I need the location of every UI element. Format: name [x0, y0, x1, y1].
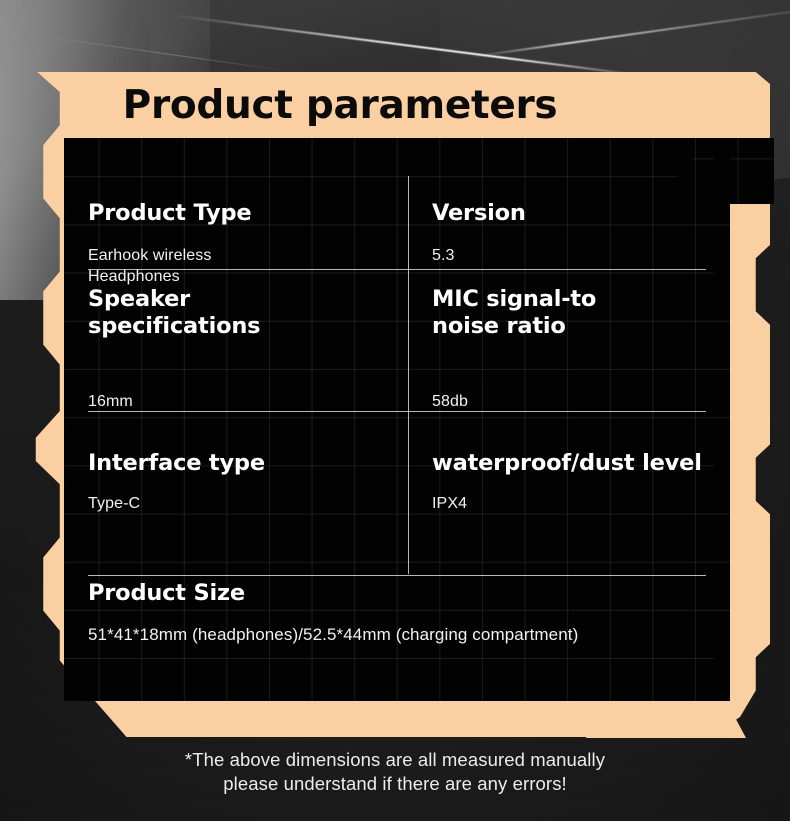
table-row: MIC signal-to noise ratio [432, 286, 722, 341]
table-row: Version [432, 200, 722, 227]
table-row: Interface type [88, 450, 388, 477]
table-row: Type-C [88, 494, 388, 515]
footer-line-1: *The above dimensions are all measured m… [0, 748, 790, 772]
page-title: Product parameters [20, 72, 660, 138]
table-row: 58db [432, 392, 722, 413]
footer-disclaimer: *The above dimensions are all measured m… [0, 748, 790, 797]
footer-line-2: please understand if there are any error… [0, 772, 790, 796]
table-row: IPX4 [432, 494, 722, 515]
table-vertical-divider [408, 176, 409, 574]
frame-bottom-tab [586, 702, 746, 738]
table-row: Product Size [88, 580, 728, 607]
table-row: waterproof/dust level [432, 450, 752, 477]
table-row-divider-3 [88, 575, 706, 576]
table-row: 5.3 [432, 246, 722, 267]
table-row: Speaker specifications [88, 286, 388, 341]
table-row: 16mm [88, 392, 388, 413]
product-parameters-page: Product parameters Product Type Earhook … [0, 0, 790, 821]
table-row: 51*41*18mm (headphones)/52.5*44mm (charg… [88, 624, 728, 646]
panel-title-banner: Product parameters [20, 72, 770, 138]
table-row: Product Type [88, 200, 388, 227]
table-row: Earhook wireless Headphones [88, 246, 388, 288]
parameters-table: Product Type Earhook wireless Headphones… [64, 138, 730, 701]
parameter-panel-frame: Product parameters Product Type Earhook … [20, 72, 770, 737]
